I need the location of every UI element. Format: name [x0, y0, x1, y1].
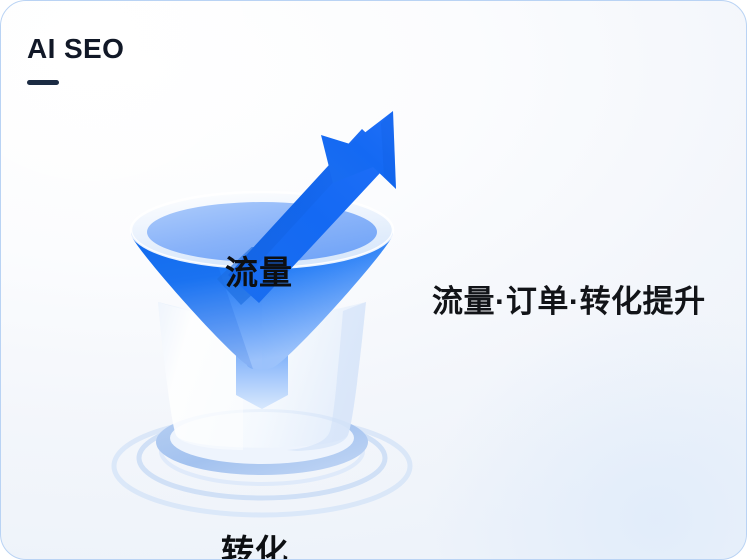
conversion-funnel-illustration: 流量 转化 [97, 97, 427, 537]
background-highlight-bottom-right [426, 309, 747, 560]
tagline-text: 流量·订单·转化提升 [432, 276, 706, 321]
brand-title: AI SEO [27, 35, 124, 63]
poster-canvas: AI SEO 流量·订单·转化提升 [0, 0, 747, 560]
brand-block: AI SEO [27, 35, 124, 85]
brand-underline-rule [27, 80, 59, 85]
funnel-label-conversion: 转化 [221, 525, 289, 560]
funnel-label-traffic: 流量 [225, 246, 293, 294]
